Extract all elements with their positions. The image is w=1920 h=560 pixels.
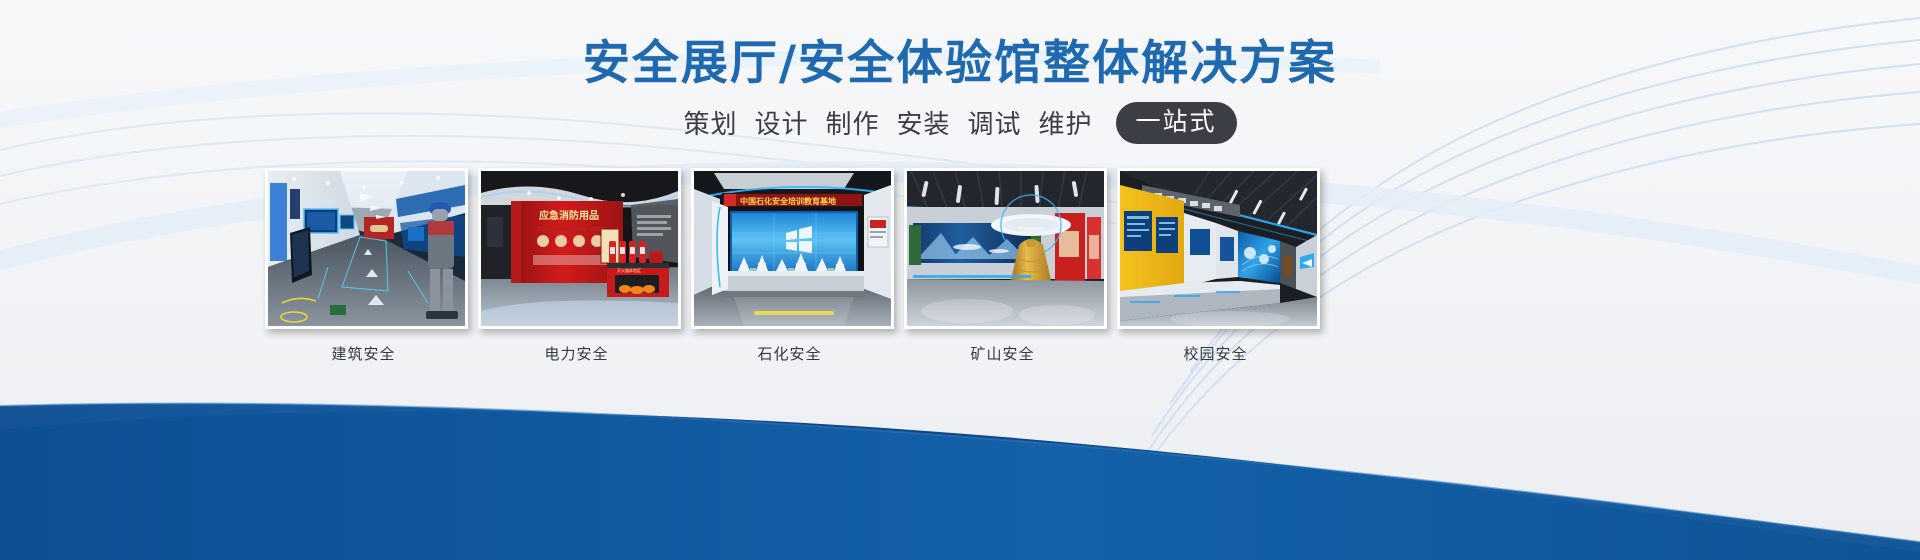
service-steps: 策划 设计 制作 安装 调试 维护 一站式 [0, 102, 1920, 144]
gallery-item-campus[interactable]: 校园安全 [1117, 168, 1314, 364]
svg-text:灭火器体验区: 灭火器体验区 [617, 267, 641, 273]
gallery-item-mine[interactable]: 矿山安全 [904, 168, 1101, 364]
gallery-thumb-construction[interactable]: 安全体验馆 [265, 168, 468, 329]
svg-text:中国石化安全培训教育基地: 中国石化安全培训教育基地 [740, 196, 836, 206]
service-step-debug: 调试 [968, 104, 1022, 141]
gallery-thumb-electric[interactable]: 应急消防用品 [478, 168, 681, 329]
gallery-caption-mine: 矿山安全 [904, 343, 1101, 364]
gallery-caption-electric: 电力安全 [478, 343, 675, 364]
page-title: 安全展厅/安全体验馆整体解决方案 [0, 24, 1920, 93]
gallery-item-electric[interactable]: 应急消防用品 [478, 168, 675, 364]
banner-root: 安全展厅/安全体验馆整体解决方案 策划 设计 制作 安装 调试 维护 一站式 [0, 0, 1920, 560]
service-step-maintain: 维护 [1039, 104, 1093, 141]
gallery-item-construction[interactable]: 安全体验馆 [265, 168, 462, 364]
electric-safety-hall-illustration: 应急消防用品 [481, 171, 678, 326]
construction-safety-hall-illustration: 安全体验馆 [268, 171, 465, 326]
campus-safety-hall-illustration [1120, 171, 1317, 326]
service-step-produce: 制作 [825, 104, 879, 141]
gallery-item-petrochemical[interactable]: 中国石化安全培训教育基地 [691, 168, 888, 364]
one-stop-badge: 一站式 [1116, 102, 1237, 144]
mine-safety-hall-illustration [907, 171, 1104, 326]
service-step-design: 设计 [754, 104, 808, 141]
svg-text:安全体验馆: 安全体验馆 [308, 199, 333, 206]
gallery-thumb-campus[interactable] [1117, 168, 1320, 329]
service-step-install: 安装 [896, 104, 950, 141]
gallery-thumb-mine[interactable] [904, 168, 1107, 329]
petrochemical-safety-hall-illustration: 中国石化安全培训教育基地 [694, 171, 891, 326]
gallery: 安全体验馆 [265, 168, 1665, 364]
gallery-caption-petrochemical: 石化安全 [691, 343, 888, 364]
gallery-caption-campus: 校园安全 [1117, 343, 1314, 364]
service-step-plan: 策划 [683, 104, 737, 141]
gallery-caption-construction: 建筑安全 [265, 343, 462, 364]
svg-text:应急消防用品: 应急消防用品 [539, 209, 599, 222]
gallery-thumb-petrochemical[interactable]: 中国石化安全培训教育基地 [691, 168, 894, 329]
